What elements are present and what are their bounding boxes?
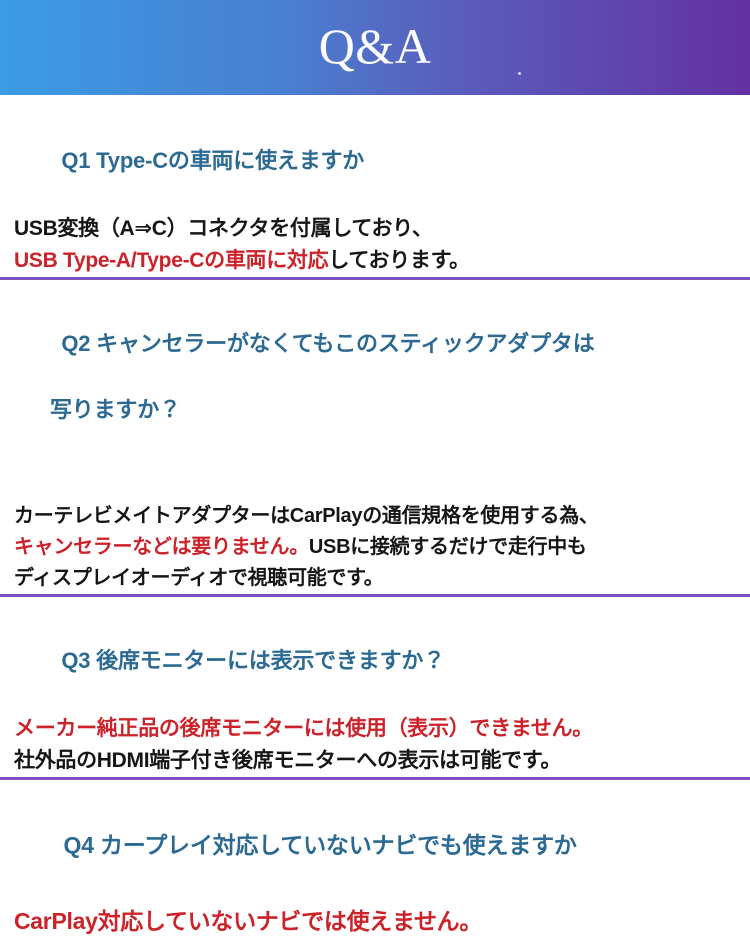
answer-line: メーカー純正品の後席モニターには使用（表示）できません。 [14, 713, 736, 745]
question-line-1: Q1 Type-Cの車両に使えますか [61, 148, 364, 173]
answer-run: しております。 [328, 249, 470, 272]
answer-body-q4: CarPlay対応していないナビでは使えません。 [14, 904, 736, 938]
answer-line: USB変換（A⇒C）コネクタを付属しており、 [14, 213, 736, 245]
answer-body-q1: USB変換（A⇒C）コネクタを付属しており、 USB Type-A/Type-C… [14, 213, 736, 277]
header-banner: Q&A [0, 0, 750, 95]
question-line-2: 写りますか？ [14, 393, 736, 426]
answer-line: カーテレビメイトアダプターはCarPlayの通信規格を使用する為、 [14, 501, 736, 532]
qa-item-q4: Q4 カープレイ対応していないナビでも使えますか CarPlay対応していないナ… [0, 780, 750, 938]
answer-line: ディスプレイオーディオで視聴可能です。 [14, 563, 736, 594]
qa-item-q2: Q2 キャンセラーがなくてもこのスティックアダプタは 写りますか？ カーテレビメ… [0, 280, 750, 594]
answer-run: ディスプレイオーディオで視聴可能です。 [14, 567, 384, 589]
question-heading-q4: Q4 カープレイ対応していないナビでも使えますか [14, 796, 736, 895]
decorative-dot [518, 72, 521, 75]
answer-run-emphasis: メーカー純正品の後席モニターには使用（表示）できません。 [14, 717, 593, 740]
answer-line: CarPlay対応していないナビでは使えません。 [14, 904, 736, 938]
answer-body-q3: メーカー純正品の後席モニターには使用（表示）できません。 社外品のHDMI端子付… [14, 713, 736, 777]
answer-run-emphasis: USB Type-A/Type-Cの車両に対応 [14, 249, 328, 272]
qa-page: Q&A Q1 Type-Cの車両に使えますか USB変換（A⇒C）コネクタを付属… [0, 0, 750, 687]
page-title: Q&A [319, 21, 432, 71]
question-line-1: Q2 キャンセラーがなくてもこのスティックアダプタは [61, 331, 594, 356]
qa-list: Q1 Type-Cの車両に使えますか USB変換（A⇒C）コネクタを付属しており… [0, 95, 750, 938]
question-line-1: Q3 後席モニターには表示できますか？ [61, 648, 445, 673]
answer-run-emphasis: キャンセラーなどは要りません。 [14, 536, 309, 558]
answer-run-emphasis: CarPlay対応していないナビでは使えません。 [14, 908, 482, 934]
question-line-1: Q4 カープレイ対応していないナビでも使えますか [64, 832, 577, 858]
answer-body-q2: カーテレビメイトアダプターはCarPlayの通信規格を使用する為、 キャンセラー… [14, 501, 736, 594]
qa-item-q3: Q3 後席モニターには表示できますか？ メーカー純正品の後席モニターには使用（表… [0, 597, 750, 777]
qa-item-q1: Q1 Type-Cの車両に使えますか USB変換（A⇒C）コネクタを付属しており… [0, 95, 750, 277]
answer-run: USBに接続するだけで走行中も [309, 536, 587, 558]
answer-line: USB Type-A/Type-Cの車両に対応しております。 [14, 245, 736, 277]
answer-line: 社外品のHDMI端子付き後席モニターへの表示は可能です。 [14, 745, 736, 777]
answer-run: USB変換（A⇒C）コネクタを付属しており、 [14, 217, 433, 240]
answer-line: キャンセラーなどは要りません。USBに接続するだけで走行中も [14, 532, 736, 563]
question-heading-q1: Q1 Type-Cの車両に使えますか [14, 111, 736, 210]
answer-run: 社外品のHDMI端子付き後席モニターへの表示は可能です。 [14, 749, 561, 772]
question-heading-q3: Q3 後席モニターには表示できますか？ [14, 611, 736, 710]
question-heading-q2: Q2 キャンセラーがなくてもこのスティックアダプタは 写りますか？ [14, 294, 736, 492]
answer-run: カーテレビメイトアダプターはCarPlayの通信規格を使用する為、 [14, 505, 599, 527]
